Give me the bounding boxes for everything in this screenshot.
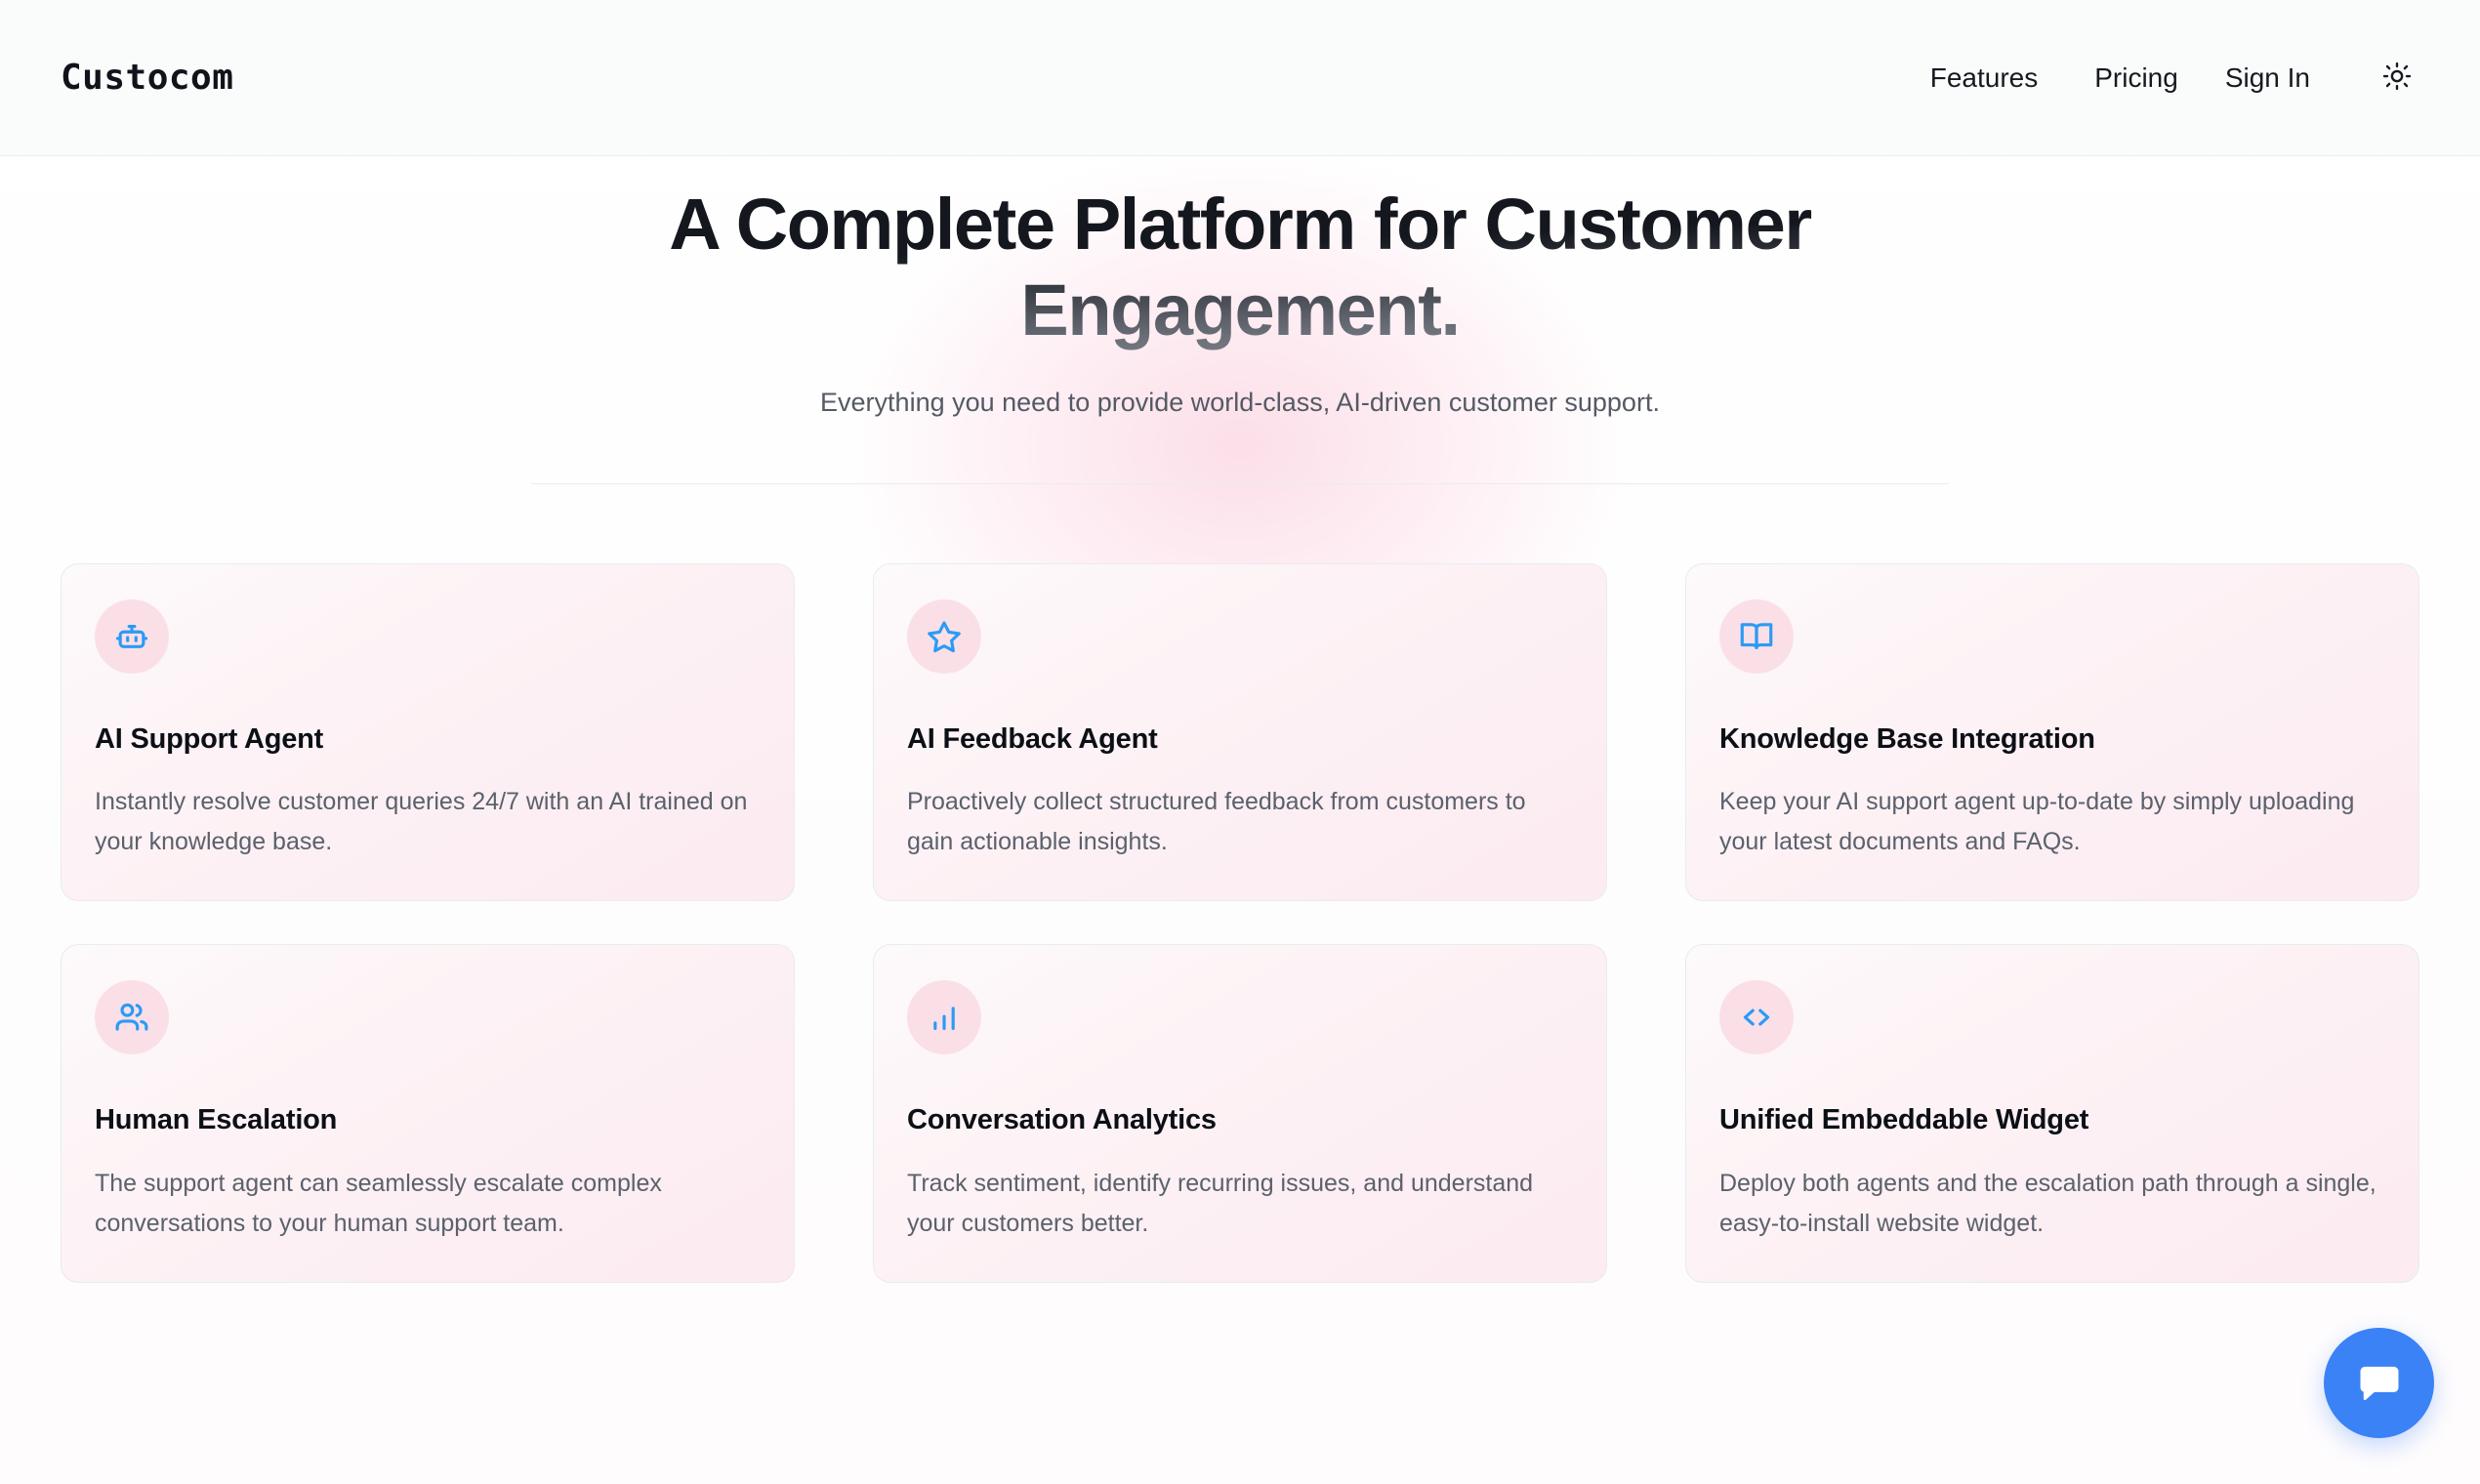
feature-title: Knowledge Base Integration [1719,722,2385,757]
hero-subtitle: Everything you need to provide world-cla… [0,383,2480,423]
feature-card-knowledge-base-integration[interactable]: Knowledge Base Integration Keep your AI … [1685,563,2419,902]
nav-link-features[interactable]: Features [1907,55,2062,102]
chat-bubble-icon [2354,1358,2405,1409]
code-icon [1738,999,1775,1036]
hero-section: A Complete Platform for Customer Engagem… [0,156,2480,484]
feature-title: AI Support Agent [95,722,761,757]
feature-card-human-escalation[interactable]: Human Escalation The support agent can s… [61,944,795,1283]
feature-title: Conversation Analytics [907,1103,1573,1137]
feature-title: Unified Embeddable Widget [1719,1103,2385,1137]
feature-title: AI Feedback Agent [907,722,1573,757]
feature-description: Track sentiment, identify recurring issu… [907,1164,1573,1243]
sun-icon [2382,62,2412,94]
theme-toggle-button[interactable] [2375,56,2419,101]
bar-chart-icon [926,999,963,1036]
site-header: Custocom Features Pricing Sign In [0,0,2480,156]
bot-icon [113,618,150,655]
feature-card-ai-support-agent[interactable]: AI Support Agent Instantly resolve custo… [61,563,795,902]
feature-description: Deploy both agents and the escalation pa… [1719,1164,2385,1243]
feature-icon-container [95,599,169,674]
feature-icon-container [1719,599,1794,674]
feature-card-unified-embeddable-widget[interactable]: Unified Embeddable Widget Deploy both ag… [1685,944,2419,1283]
brand-logo[interactable]: Custocom [61,61,233,96]
nav-link-sign-in[interactable]: Sign In [2202,55,2334,102]
feature-description: Keep your AI support agent up-to-date by… [1719,782,2385,861]
feature-icon-container [1719,980,1794,1054]
hero-divider [531,483,1949,484]
features-grid: AI Support Agent Instantly resolve custo… [0,563,2480,1284]
chat-widget-button[interactable] [2324,1328,2434,1438]
feature-description: Instantly resolve customer queries 24/7 … [95,782,761,861]
nav-link-pricing[interactable]: Pricing [2071,55,2202,102]
feature-description: Proactively collect structured feedback … [907,782,1573,861]
users-icon [113,999,150,1036]
feature-icon-container [907,599,981,674]
feature-icon-container [95,980,169,1054]
main-navigation: Features Pricing Sign In [1907,55,2419,102]
page-title: A Complete Platform for Customer Engagem… [664,182,1816,353]
feature-description: The support agent can seamlessly escalat… [95,1164,761,1243]
book-open-icon [1738,618,1775,655]
feature-card-conversation-analytics[interactable]: Conversation Analytics Track sentiment, … [873,944,1607,1283]
feature-title: Human Escalation [95,1103,761,1137]
feature-card-ai-feedback-agent[interactable]: AI Feedback Agent Proactively collect st… [873,563,1607,902]
feature-icon-container [907,980,981,1054]
star-icon [926,618,963,655]
